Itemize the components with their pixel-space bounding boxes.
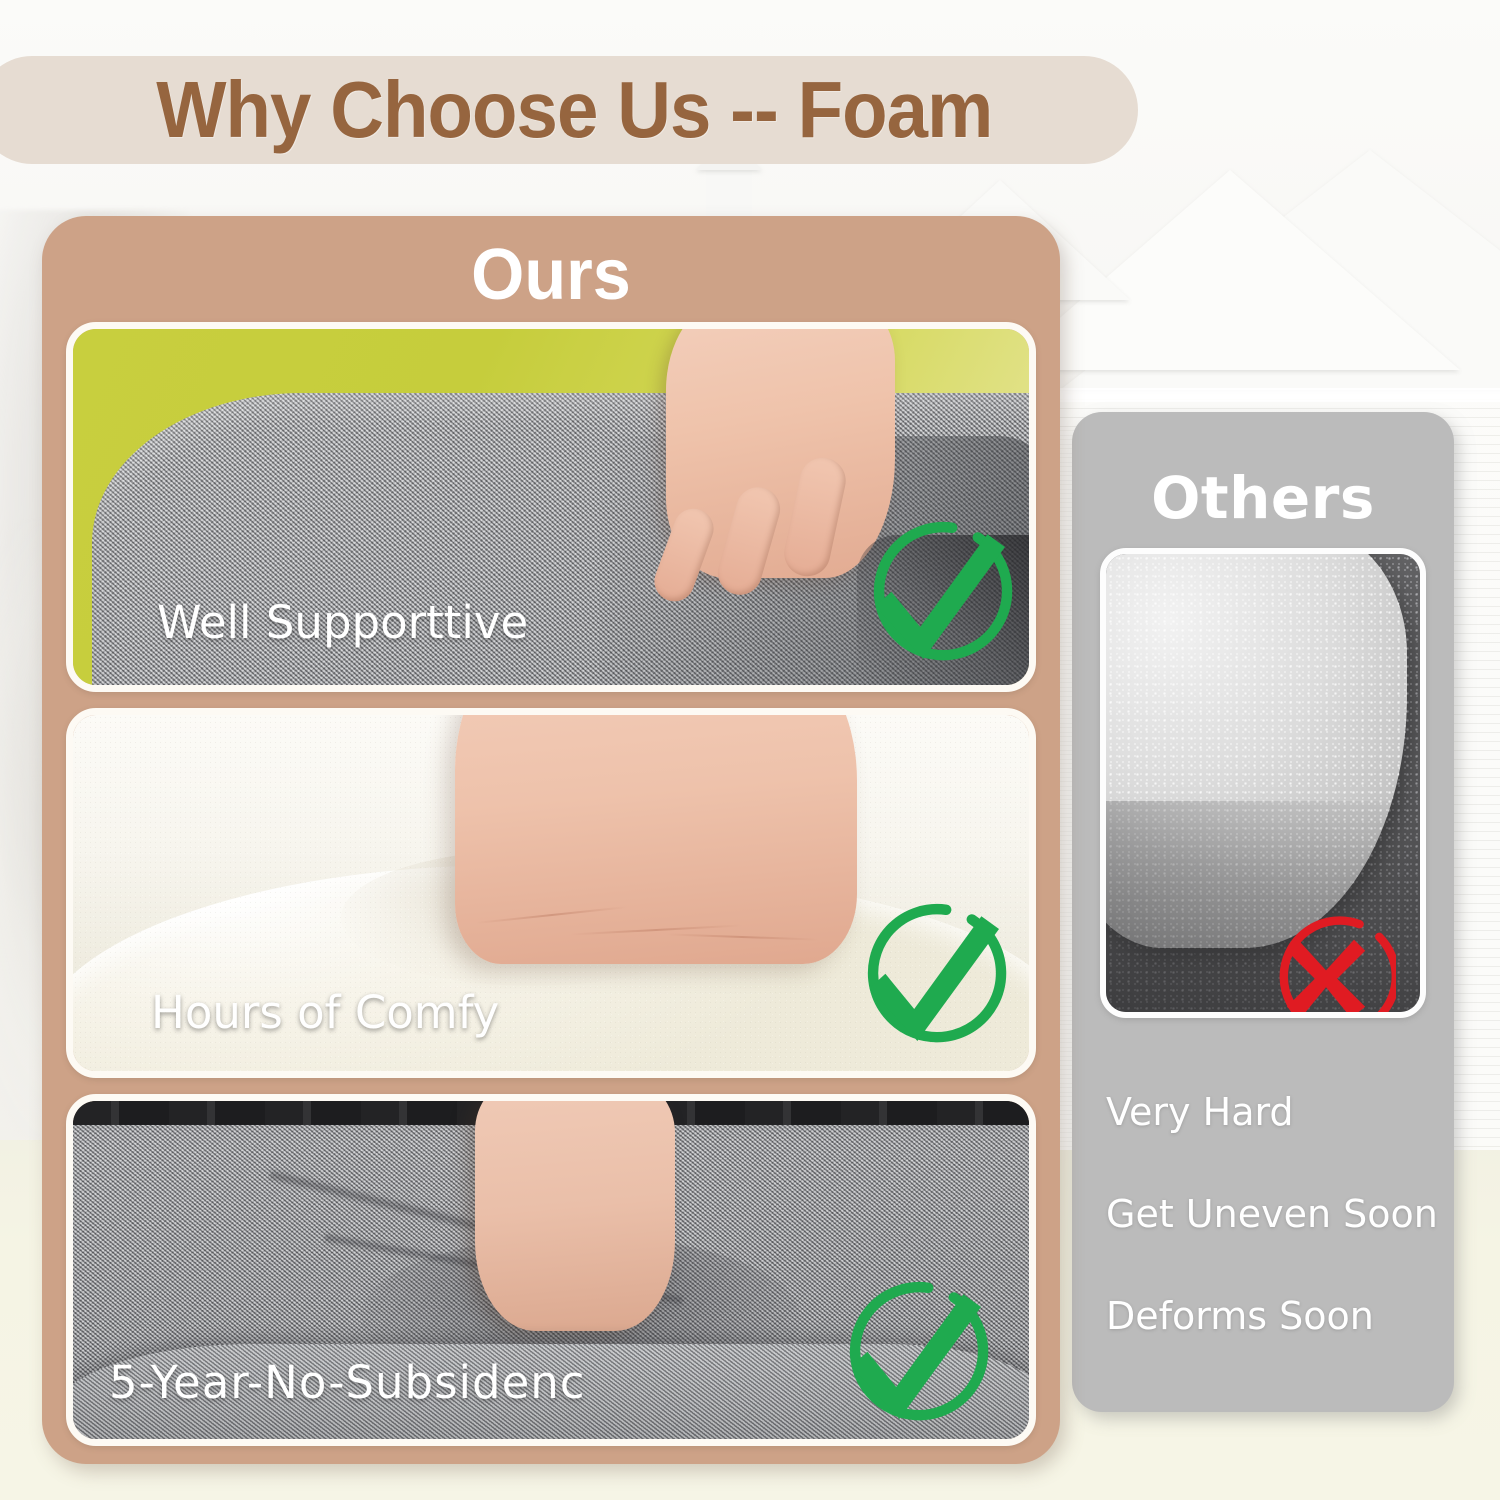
green-check-icon xyxy=(853,515,1013,675)
ours-photo-card-3: 5-Year-No-Subsidenc xyxy=(66,1094,1036,1446)
page-title: Why Choose Us -- Foam xyxy=(157,64,993,156)
ours-photo-card-1: Well Supporttive xyxy=(66,322,1036,692)
green-check-icon xyxy=(829,1275,989,1435)
green-check-icon xyxy=(847,897,1007,1057)
others-photo-card xyxy=(1100,548,1426,1018)
others-list-item: Very Hard xyxy=(1106,1090,1436,1134)
others-list-item: Get Uneven Soon xyxy=(1106,1192,1436,1236)
infographic-canvas: Why Choose Us -- Foam Others Very Hard G… xyxy=(0,0,1500,1500)
ours-photo-card-2: Hours of Comfy xyxy=(66,708,1036,1078)
ours-panel: Ours Well Supporttive xyxy=(42,216,1060,1464)
others-panel-title: Others xyxy=(1072,464,1454,532)
card-caption: Hours of Comfy xyxy=(151,986,499,1039)
header-banner: Why Choose Us -- Foam xyxy=(0,56,1138,164)
card-caption: Well Supporttive xyxy=(157,596,528,649)
card-caption: 5-Year-No-Subsidenc xyxy=(109,1356,586,1409)
red-x-icon xyxy=(1256,906,1396,1018)
others-drawbacks-list: Very Hard Get Uneven Soon Deforms Soon xyxy=(1106,1090,1436,1396)
others-list-item: Deforms Soon xyxy=(1106,1294,1436,1338)
others-panel: Others Very Hard Get Uneven Soon Deforms… xyxy=(1072,412,1454,1412)
ours-panel-title: Ours xyxy=(67,234,1034,316)
